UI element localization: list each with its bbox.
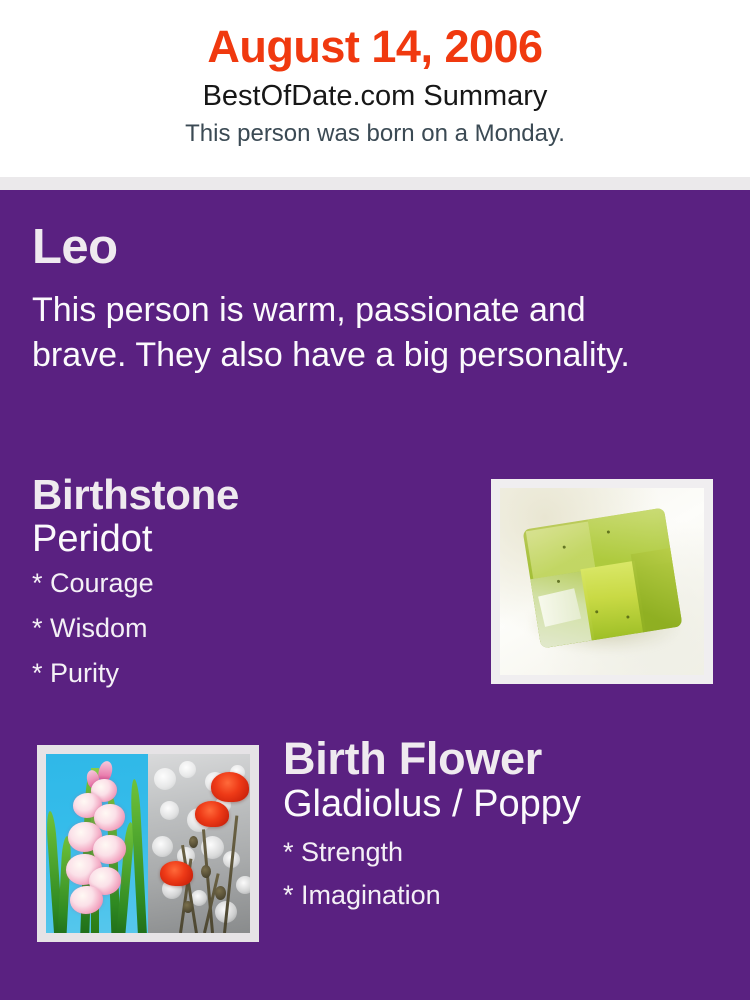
poppy-bloom [195, 801, 229, 827]
gladiolus-and-poppy-image [46, 754, 250, 933]
birth-flower-photo-frame [37, 745, 259, 942]
zodiac-sign-heading: Leo [32, 223, 692, 272]
poppy-bud [183, 901, 193, 913]
list-item: * Purity [32, 660, 472, 705]
gem-inclusion [556, 580, 559, 583]
poppy-bloom [211, 772, 249, 802]
gladiolus-photo-half [46, 754, 148, 933]
day-of-week-line: This person was born on a Monday. [0, 111, 750, 146]
birthstone-section: Birthstone Peridot * Courage * Wisdom * … [32, 473, 472, 705]
birthstone-heading: Birthstone [32, 473, 472, 517]
bokeh-dot [179, 761, 196, 778]
poppy-bud [189, 836, 198, 848]
gem-inclusion [594, 610, 597, 613]
peridot-gemstone-image [500, 488, 704, 675]
zodiac-description: This person is warm, passionate and brav… [32, 272, 682, 378]
site-summary-label: BestOfDate.com Summary [0, 69, 750, 111]
list-item: * Wisdom [32, 615, 472, 660]
page-title: August 14, 2006 [0, 0, 750, 69]
header-divider [0, 177, 750, 190]
list-item: * Imagination [283, 882, 733, 925]
birth-flower-trait-list: * Strength * Imagination [283, 825, 733, 925]
header: August 14, 2006 BestOfDate.com Summary T… [0, 0, 750, 177]
list-item: * Courage [32, 570, 472, 615]
list-item: * Strength [283, 839, 733, 882]
poppy-photo-half [148, 754, 250, 933]
birthstone-trait-list: * Courage * Wisdom * Purity [32, 560, 472, 705]
gem-inclusion [562, 545, 565, 548]
bokeh-dot [236, 876, 250, 894]
birth-flower-heading: Birth Flower [283, 735, 733, 782]
poppy-bloom [160, 861, 193, 886]
poppy-bud [201, 865, 211, 878]
bokeh-dot [160, 801, 179, 820]
birth-flower-section: Birth Flower Gladiolus / Poppy * Strengt… [283, 735, 733, 925]
zodiac-section: Leo This person is warm, passionate and … [32, 223, 692, 378]
birthstone-name: Peridot [32, 517, 472, 560]
summary-card: August 14, 2006 BestOfDate.com Summary T… [0, 0, 750, 1000]
birth-flower-name: Gladiolus / Poppy [283, 782, 733, 825]
gem-inclusion [625, 615, 628, 618]
gem-body [522, 507, 682, 648]
birthstone-photo-frame [491, 479, 713, 684]
